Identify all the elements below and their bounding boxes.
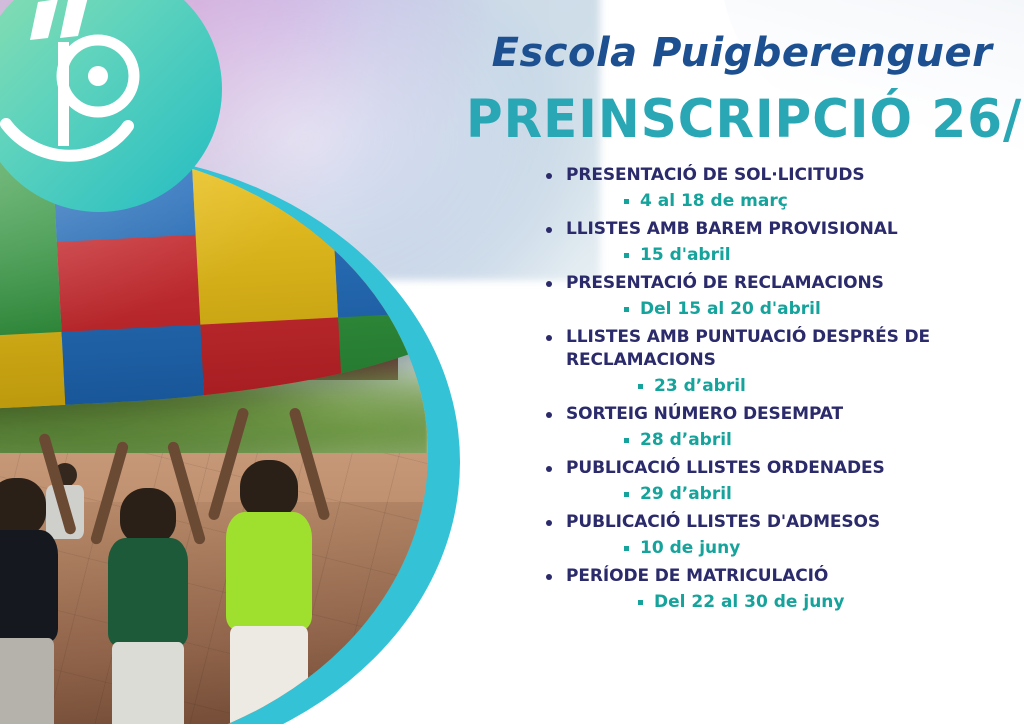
timeline-item-date: Del 22 al 30 de juny	[540, 591, 1010, 613]
timeline-item: LLISTES AMB PUNTUACIÓ DESPRÉS DE RECLAMA…	[540, 326, 1010, 397]
photo-child	[221, 460, 317, 724]
timeline-item-date: 4 al 18 de març	[540, 190, 1010, 212]
timeline-item-title: LLISTES AMB PUNTUACIÓ DESPRÉS DE RECLAMA…	[540, 326, 1010, 372]
timeline-item-date: 10 de juny	[540, 537, 1010, 559]
timeline-item-date: 15 d'abril	[540, 244, 1010, 266]
timeline-item-title: PRESENTACIÓ DE SOL·LICITUDS	[540, 164, 1010, 187]
timeline-item-title: PUBLICACIÓ LLISTES D'ADMESOS	[540, 511, 1010, 534]
parachute-row	[0, 220, 428, 359]
timeline-item: SORTEIG NÚMERO DESEMPAT 28 d’abril	[540, 403, 1010, 451]
timeline-item: PUBLICACIÓ LLISTES ORDENADES 29 d’abril	[540, 457, 1010, 505]
school-name-title: Escola Puigberenguer	[472, 30, 1012, 76]
timeline-item-date: 23 d’abril	[540, 375, 1010, 397]
timeline-item-date: 28 d’abril	[540, 429, 1010, 451]
preinscripcio-timeline: PRESENTACIÓ DE SOL·LICITUDS 4 al 18 de m…	[540, 164, 1010, 619]
photo-child	[0, 478, 65, 724]
page-title: PREINSCRIPCIÓ 26/27	[466, 88, 1018, 149]
timeline-item: PUBLICACIÓ LLISTES D'ADMESOS 10 de juny	[540, 511, 1010, 559]
timeline-item: PRESENTACIÓ DE SOL·LICITUDS 4 al 18 de m…	[540, 164, 1010, 212]
preinscripcio-poster: Escola Puigberenguer PREINSCRIPCIÓ 26/27…	[0, 0, 1024, 724]
timeline-item-title: PERÍODE DE MATRICULACIÓ	[540, 565, 1010, 588]
timeline-item: PRESENTACIÓ DE RECLAMACIONS Del 15 al 20…	[540, 272, 1010, 320]
timeline-item: LLISTES AMB BAREM PROVISIONAL 15 d'abril	[540, 218, 1010, 266]
timeline-item-title: LLISTES AMB BAREM PROVISIONAL	[540, 218, 1010, 241]
school-logo	[0, 0, 222, 212]
photo-child	[102, 488, 194, 724]
timeline-item-date: 29 d’abril	[540, 483, 1010, 505]
timeline-item-title: PRESENTACIÓ DE RECLAMACIONS	[540, 272, 1010, 295]
timeline-item-title: PUBLICACIÓ LLISTES ORDENADES	[540, 457, 1010, 480]
timeline-item: PERÍODE DE MATRICULACIÓ Del 22 al 30 de …	[540, 565, 1010, 613]
photo-scene	[0, 148, 428, 724]
timeline-item-date: Del 15 al 20 d'abril	[540, 298, 1010, 320]
school-activity-photo	[0, 148, 428, 724]
timeline-item-title: SORTEIG NÚMERO DESEMPAT	[540, 403, 1010, 426]
logo-p-face-icon	[0, 0, 222, 212]
poster-content: Escola Puigberenguer PREINSCRIPCIÓ 26/27…	[452, 0, 1024, 724]
